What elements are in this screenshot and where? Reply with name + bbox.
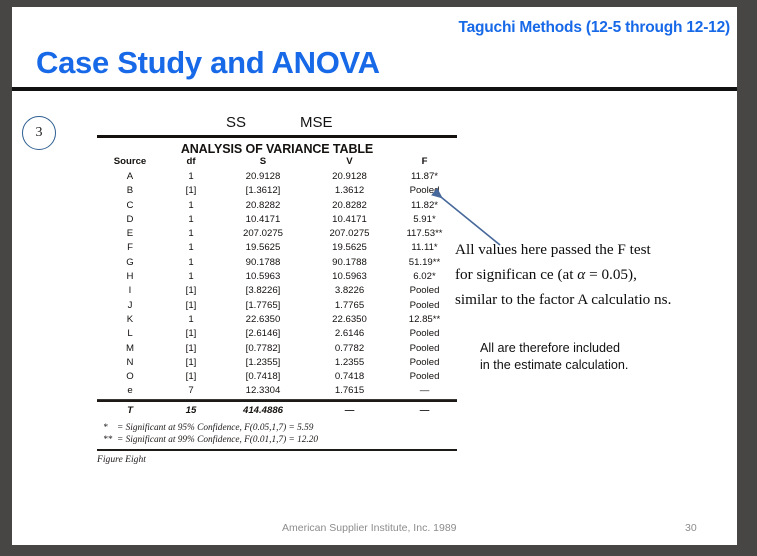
ss-column-callout: SS [226,114,246,131]
cell-f: 12.85** [392,313,457,327]
cell-v: 20.8282 [307,199,392,213]
cell-f: 6.02* [392,270,457,284]
cell-source: M [97,342,163,356]
cell-s: [1.3612] [219,184,307,198]
cell-source: F [97,241,163,255]
cell-df: 7 [163,384,219,398]
cell-s: [0.7782] [219,342,307,356]
cell-source: L [97,327,163,341]
slide-header: Taguchi Methods (12-5 through 12-12) Cas… [12,7,737,86]
cell-v: 0.7418 [307,370,392,384]
footer-page-number: 30 [685,522,697,534]
cell-f: Pooled [392,184,457,198]
total-source: T [97,402,163,420]
step-number-badge: 3 [22,116,56,150]
table-row: O[1][0.7418]0.7418Pooled [97,370,457,384]
cell-f: Pooled [392,370,457,384]
cell-source: H [97,270,163,284]
footnote-95: *= Significant at 95% Confidence, F(0.05… [103,423,457,435]
cell-df: [1] [163,356,219,370]
cell-s: 19.5625 [219,241,307,255]
cell-f: 117.53** [392,227,457,241]
cell-source: e [97,384,163,398]
total-s: 414.4886 [219,402,307,420]
cell-v: 10.5963 [307,270,392,284]
total-df: 15 [163,402,219,420]
cell-v: 3.8226 [307,284,392,298]
annotation-line-2-post: = 0.05), [585,266,637,283]
table-row: I[1][3.8226]3.8226Pooled [97,284,457,298]
cell-f: Pooled [392,327,457,341]
column-header-s: S [219,156,307,170]
table-row: J[1][1.7765]1.7765Pooled [97,299,457,313]
annotation-line-3: similar to the factor A calculatio ns. [455,287,745,312]
cell-df: 1 [163,241,219,255]
cell-v: 207.0275 [307,227,392,241]
cell-df: [1] [163,284,219,298]
table-row: A120.912820.912811.87* [97,170,457,184]
cell-s: [1.2355] [219,356,307,370]
cell-s: [1.7765] [219,299,307,313]
cell-df: 1 [163,270,219,284]
cell-s: 207.0275 [219,227,307,241]
cell-df: 1 [163,256,219,270]
cell-s: 20.8282 [219,199,307,213]
cell-source: I [97,284,163,298]
column-header-f: F [392,156,457,170]
cell-source: G [97,256,163,270]
cell-source: E [97,227,163,241]
cell-source: K [97,313,163,327]
column-header-v: V [307,156,392,170]
table-header-row: Source df S V F [97,156,457,170]
cell-df: 1 [163,227,219,241]
annotation-line-2: for significan ce (at α = 0.05), [455,262,745,287]
cell-source: C [97,199,163,213]
annotation-line-2-pre: for significan ce (at [455,266,577,283]
anova-table-body: A120.912820.912811.87*B[1][1.3612]1.3612… [97,170,457,399]
anova-table-heading: ANALYSIS OF VARIANCE TABLE [97,138,457,156]
cell-f: Pooled [392,299,457,313]
anova-total-table: T 15 414.4886 — — [97,402,457,420]
total-f: — [392,402,457,420]
table-row: G190.178890.178851.19** [97,256,457,270]
cell-df: 1 [163,199,219,213]
cell-v: 1.7615 [307,384,392,398]
step-number-label: 3 [36,125,43,141]
cell-v: 90.1788 [307,256,392,270]
cell-source: D [97,213,163,227]
footnote-99: **= Significant at 99% Confidence, F(0.0… [103,435,457,447]
table-row: K122.635022.635012.85** [97,313,457,327]
cell-source: A [97,170,163,184]
cell-df: [1] [163,342,219,356]
anova-table: Source df S V F A120.912820.912811.87*B[… [97,156,457,399]
mse-column-callout: MSE [300,114,333,131]
cell-f: 11.87* [392,170,457,184]
table-row: M[1][0.7782]0.7782Pooled [97,342,457,356]
cell-s: 10.5963 [219,270,307,284]
table-row: H110.596310.59636.02* [97,270,457,284]
table-row: B[1][1.3612]1.3612Pooled [97,184,457,198]
total-v: — [307,402,392,420]
cell-df: 1 [163,313,219,327]
footnote-text-99: = Significant at 99% Confidence, F(0.01,… [117,435,318,445]
cell-f: Pooled [392,356,457,370]
anova-footnotes: *= Significant at 95% Confidence, F(0.05… [97,420,457,449]
cell-v: 0.7782 [307,342,392,356]
cell-v: 10.4171 [307,213,392,227]
table-row: D110.417110.41715.91* [97,213,457,227]
figure-caption: Figure Eight [97,451,457,465]
cell-f: Pooled [392,284,457,298]
cell-df: [1] [163,184,219,198]
title-divider [12,86,737,91]
table-row-total: T 15 414.4886 — — [97,402,457,420]
table-row: E1207.0275207.0275117.53** [97,227,457,241]
footnote-marker-95: * [103,423,117,435]
cell-s: 10.4171 [219,213,307,227]
cell-df: [1] [163,327,219,341]
annotation-line-1: All values here passed the F test [455,237,745,262]
cell-v: 20.9128 [307,170,392,184]
annotation-serif-block: All values here passed the F test for si… [455,237,745,312]
anova-figure: ANALYSIS OF VARIANCE TABLE Source df S V… [97,135,457,465]
cell-s: [3.8226] [219,284,307,298]
annotation-sans-line-2: in the estimate calculation. [480,357,740,374]
table-row: C120.828220.828211.82* [97,199,457,213]
slide-frame: Taguchi Methods (12-5 through 12-12) Cas… [0,0,757,556]
cell-f: 5.91* [392,213,457,227]
cell-f: 11.11* [392,241,457,255]
footer-source-text: American Supplier Institute, Inc. 1989 [282,522,457,534]
cell-df: [1] [163,370,219,384]
slide-canvas: Taguchi Methods (12-5 through 12-12) Cas… [12,7,737,545]
table-row: L[1][2.6146]2.6146Pooled [97,327,457,341]
cell-s: 20.9128 [219,170,307,184]
cell-f: Pooled [392,342,457,356]
slide-body: 3 SS MSE ANALYSIS OF VARIANCE TABLE Sour… [12,92,737,545]
cell-v: 19.5625 [307,241,392,255]
table-row: N[1][1.2355]1.2355Pooled [97,356,457,370]
table-row: F119.562519.562511.11* [97,241,457,255]
cell-s: 12.3304 [219,384,307,398]
cell-v: 1.2355 [307,356,392,370]
cell-f: 11.82* [392,199,457,213]
table-row: e712.33041.7615— [97,384,457,398]
cell-v: 1.7765 [307,299,392,313]
column-header-source: Source [97,156,163,170]
page-title: Case Study and ANOVA [36,45,380,81]
cell-v: 22.6350 [307,313,392,327]
cell-f: 51.19** [392,256,457,270]
course-label: Taguchi Methods (12-5 through 12-12) [458,19,730,37]
annotation-sans-block: All are therefore included in the estima… [480,340,740,374]
cell-source: J [97,299,163,313]
cell-f: — [392,384,457,398]
cell-source: N [97,356,163,370]
cell-df: 1 [163,170,219,184]
cell-s: 22.6350 [219,313,307,327]
footnote-marker-99: ** [103,435,117,447]
cell-s: [0.7418] [219,370,307,384]
cell-df: 1 [163,213,219,227]
cell-source: B [97,184,163,198]
column-header-df: df [163,156,219,170]
footnote-text-95: = Significant at 95% Confidence, F(0.05,… [117,423,313,433]
cell-v: 2.6146 [307,327,392,341]
cell-df: [1] [163,299,219,313]
cell-s: [2.6146] [219,327,307,341]
cell-source: O [97,370,163,384]
cell-v: 1.3612 [307,184,392,198]
cell-s: 90.1788 [219,256,307,270]
annotation-sans-line-1: All are therefore included [480,340,740,357]
